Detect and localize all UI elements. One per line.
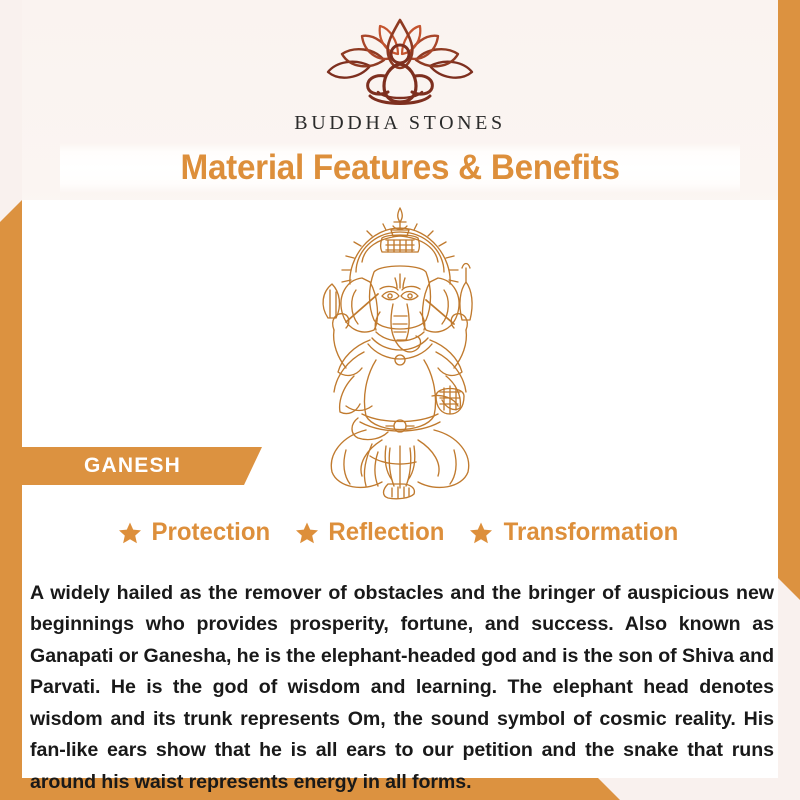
brand-block: BUDDHA STONES — [0, 14, 800, 135]
star-icon — [469, 521, 493, 545]
description-paragraph: A widely hailed as the remover of obstac… — [30, 578, 774, 799]
feature-label: Protection — [152, 518, 271, 547]
feature-item: Transformation — [469, 518, 682, 547]
star-icon — [118, 521, 142, 545]
ganesha-line-art-illustration — [250, 200, 550, 500]
deity-name-label: GANESH — [84, 454, 181, 478]
feature-label: Transformation — [503, 518, 678, 547]
title-band: Material Features & Benefits — [60, 143, 740, 193]
brand-name: BUDDHA STONES — [294, 112, 505, 135]
features-row: Protection Reflection Transformation — [22, 518, 778, 547]
poster-root: BUDDHA STONES Material Features & Benefi… — [0, 0, 800, 800]
frame-left-bar — [0, 200, 22, 800]
star-icon — [295, 521, 319, 545]
feature-item: Reflection — [295, 518, 447, 547]
feature-item: Protection — [118, 518, 273, 547]
lotus-meditation-figure-icon — [316, 14, 484, 110]
page-title: Material Features & Benefits — [180, 148, 619, 188]
feature-label: Reflection — [328, 518, 444, 547]
deity-name-tag: GANESH — [22, 447, 262, 485]
